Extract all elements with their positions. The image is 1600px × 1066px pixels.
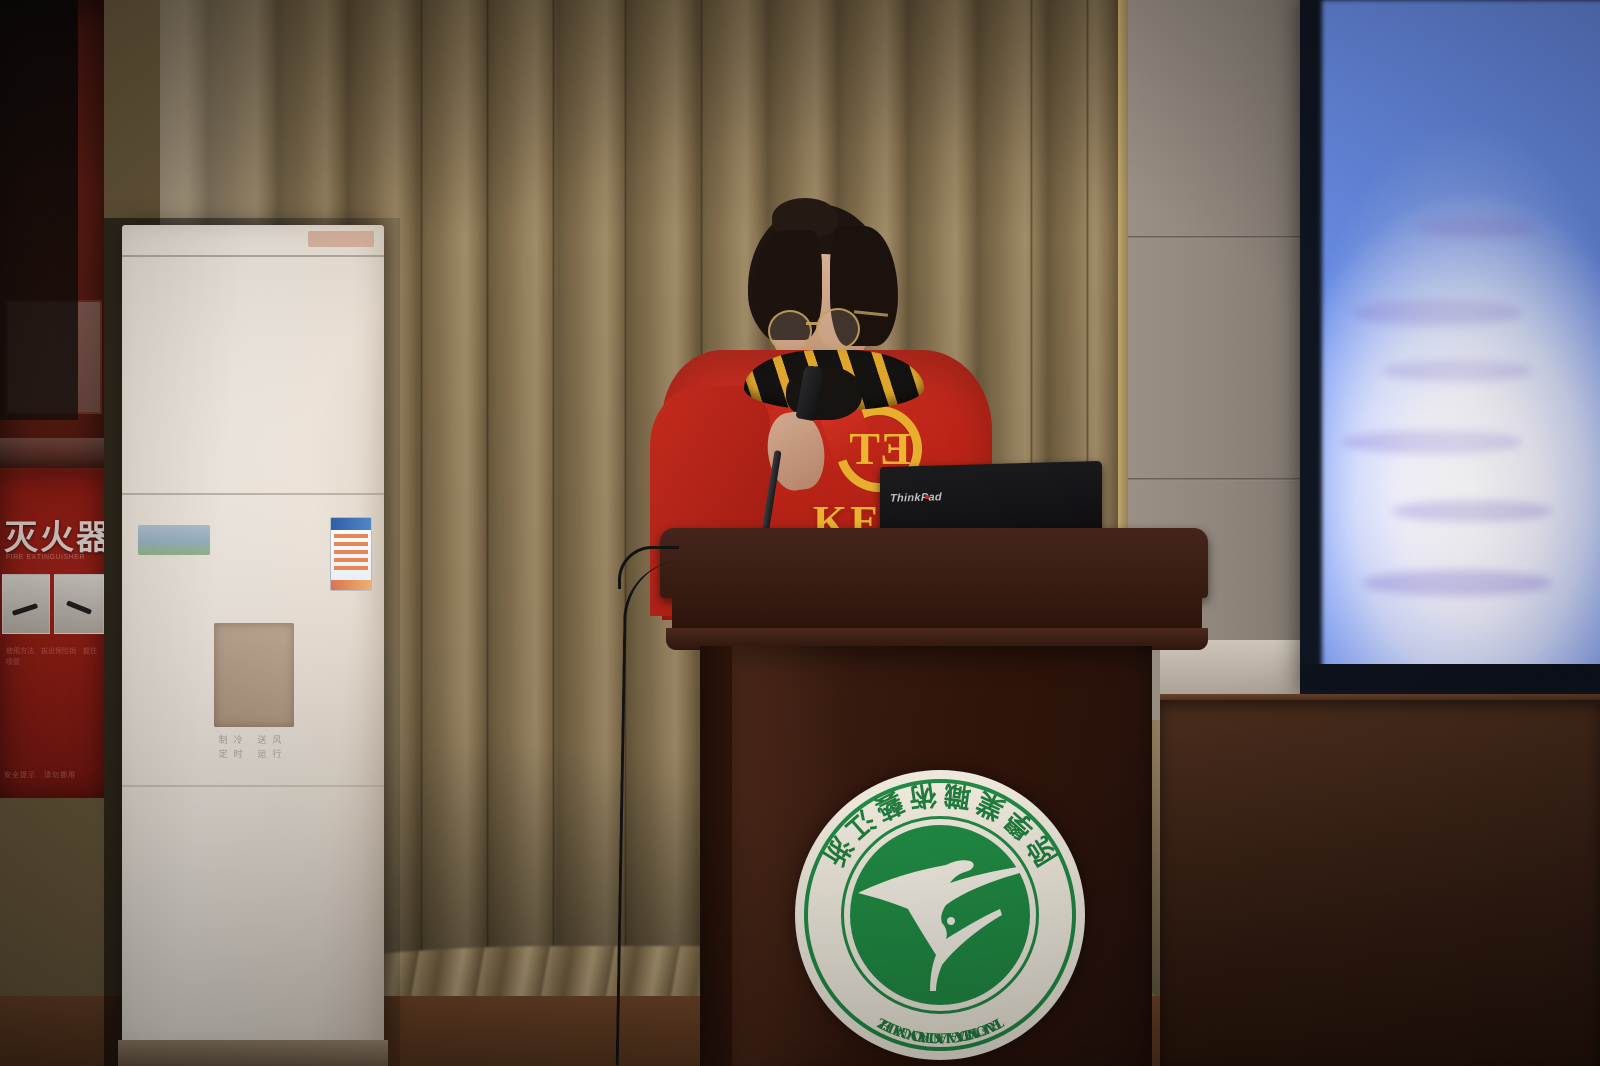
- thinkpad-logo-dot: [925, 495, 929, 499]
- panel-seam: [1128, 478, 1328, 481]
- energy-efficiency-label: [330, 517, 372, 591]
- microphone-cable: [616, 559, 698, 1066]
- glasses-bridge: [806, 322, 820, 325]
- fire-extinguisher-poster: 灭火器 FIRE EXTINGUISHER 使用方法 拔出保险销 握住喷管 安全…: [0, 468, 104, 798]
- fire-poster-heading: 灭火器: [4, 510, 104, 559]
- auditorium-photo: 灭火器 FIRE EXTINGUISHER 使用方法 拔出保险销 握住喷管 安全…: [0, 0, 1600, 1066]
- ac-sticker: [138, 525, 210, 555]
- poster-light-patch: [0, 438, 104, 474]
- poster-shadow-overlay: [0, 0, 78, 420]
- fire-poster-heading-en: FIRE EXTINGUISHER: [6, 554, 102, 561]
- screen-bottom-frame: [1300, 664, 1600, 690]
- ac-top-badge: [308, 231, 374, 247]
- ac-seam: [122, 493, 384, 495]
- curtain-fold: [486, 0, 489, 1066]
- panel-seam: [1128, 236, 1328, 239]
- curtain-fold: [420, 0, 423, 1066]
- projection-screen-image: [1322, 0, 1600, 676]
- air-conditioner-unit: 制冷 送风 定时 运行: [122, 225, 384, 1047]
- fire-poster-instructions: 使用方法 拔出保险销 握住喷管: [6, 646, 98, 668]
- emblem-english-text: ZHEJIANG VOCATIONAL ACADEMY OF ART: [795, 770, 1085, 1060]
- ac-seam: [122, 255, 384, 257]
- fire-poster-footer: 安全提示 请勿挪用: [4, 770, 100, 780]
- ac-control-labels-row1: 制冷 送风: [122, 733, 384, 746]
- ac-control-labels-row2: 定时 运行: [122, 747, 384, 760]
- glasses-lens-left: [768, 310, 812, 352]
- curtain-fold: [552, 0, 555, 1066]
- glasses-lens-right: [816, 308, 860, 350]
- wood-partition: [1160, 700, 1600, 1066]
- fire-poster-pictogram-1: [2, 574, 50, 634]
- thinkpad-logo: ThinkPad: [890, 491, 942, 504]
- podium-front-band: [672, 576, 1202, 634]
- ac-seam: [122, 785, 384, 787]
- ac-unit-base: [118, 1040, 388, 1066]
- ac-display-panel: [214, 623, 294, 727]
- fire-poster-pictogram-2: [54, 574, 104, 634]
